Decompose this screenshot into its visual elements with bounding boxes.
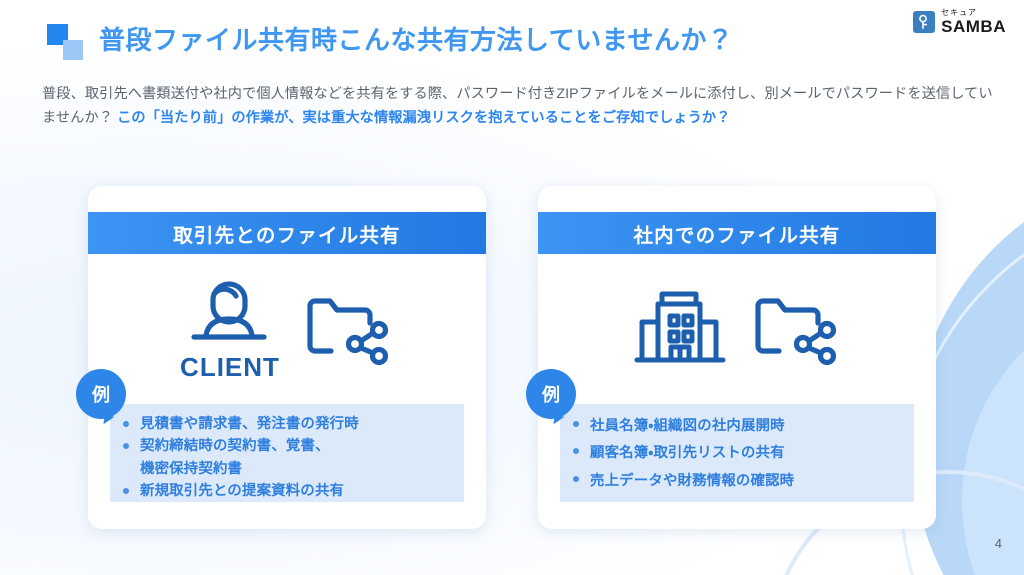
title-marker-icon [47, 24, 87, 60]
list-item: 契約締結時の契約書、覚書、 機密保持契約書 [140, 435, 450, 480]
list-item-line: 機密保持契約書 [140, 458, 450, 480]
list-item-line: 見積書や請求書、発注書の発行時 [140, 413, 450, 435]
card-illustration [538, 262, 936, 392]
card-group: 取引先とのファイル共有 CLIENT [88, 186, 936, 529]
list-item-line: 顧客名簿・取引先リストの共有 [590, 440, 900, 467]
bullet-dot-icon [123, 421, 129, 427]
logo-kana: セキュア [941, 9, 1006, 17]
bullet-dot-icon [573, 421, 579, 427]
card-header-band: 取引先とのファイル共有 [88, 212, 486, 254]
logo-key-person-icon [913, 11, 935, 33]
list-item: 売上データや財務情報の確認時 [590, 468, 900, 495]
list-item-line: 新規取引先との提案資料の共有 [140, 480, 450, 502]
example-list: 見積書や請求書、発注書の発行時 契約締結時の契約書、覚書、 機密保持契約書 新規… [110, 413, 464, 502]
office-building-icon-wrap [632, 282, 728, 372]
folder-share-icon [750, 284, 842, 370]
card-internal-sharing: 社内でのファイル共有 [538, 186, 936, 529]
logo-text: セキュア SAMBA [941, 9, 1006, 35]
list-item: 社員名簿・組織図の社内展開時 [590, 413, 900, 440]
page-title: 普段ファイル共有時こんな共有方法していませんか？ [99, 20, 733, 57]
example-list-box: 見積書や請求書、発注書の発行時 契約締結時の契約書、覚書、 機密保持契約書 新規… [110, 404, 464, 502]
card-external-sharing: 取引先とのファイル共有 CLIENT [88, 186, 486, 529]
slide-root: 普段ファイル共有時こんな共有方法していませんか？ セキュア SAMBA 普段、取… [0, 0, 1024, 575]
folder-share-icon-wrap-1 [302, 284, 394, 370]
client-person-icon-wrap: CLIENT [180, 272, 280, 383]
example-badge: 例 [526, 369, 576, 419]
card-title: 取引先とのファイル共有 [173, 219, 401, 248]
lead-paragraph: 普段、取引先へ書類送付や社内で個人情報などを共有をする際、パスワード付きZIPフ… [42, 83, 997, 131]
bullet-dot-icon [123, 443, 129, 449]
list-item-line: 社員名簿・組織図の社内展開時 [590, 413, 900, 440]
list-item: 顧客名簿・取引先リストの共有 [590, 440, 900, 467]
client-caption: CLIENT [180, 352, 280, 383]
bullet-dot-icon [573, 448, 579, 454]
list-item-line: 売上データや財務情報の確認時 [590, 468, 900, 495]
list-item: 見積書や請求書、発注書の発行時 [140, 413, 450, 435]
example-badge: 例 [76, 369, 126, 419]
lead-highlight-text: この「当たり前」の作業が、実は重大な情報漏洩リスクを抱えていることをご存知でしょ… [117, 110, 730, 126]
title-marker-square-light [63, 40, 83, 60]
page-number: 4 [995, 536, 1002, 551]
card-illustration: CLIENT [88, 262, 486, 392]
card-header-band: 社内でのファイル共有 [538, 212, 936, 254]
bullet-dot-icon [573, 476, 579, 482]
brand-logo: セキュア SAMBA [913, 9, 1006, 35]
bullet-dot-icon [123, 488, 129, 494]
office-building-icon [632, 282, 728, 372]
list-item-line: 契約締結時の契約書、覚書、 [140, 435, 450, 457]
example-list: 社員名簿・組織図の社内展開時 顧客名簿・取引先リストの共有 売上データや財務情報… [560, 413, 914, 495]
folder-share-icon [302, 284, 394, 370]
logo-name: SAMBA [941, 18, 1006, 35]
list-item: 新規取引先との提案資料の共有 [140, 480, 450, 502]
example-list-box: 社員名簿・組織図の社内展開時 顧客名簿・取引先リストの共有 売上データや財務情報… [560, 404, 914, 502]
folder-share-icon-wrap-2 [750, 284, 842, 370]
client-person-icon [184, 272, 276, 354]
card-title: 社内でのファイル共有 [633, 219, 840, 248]
